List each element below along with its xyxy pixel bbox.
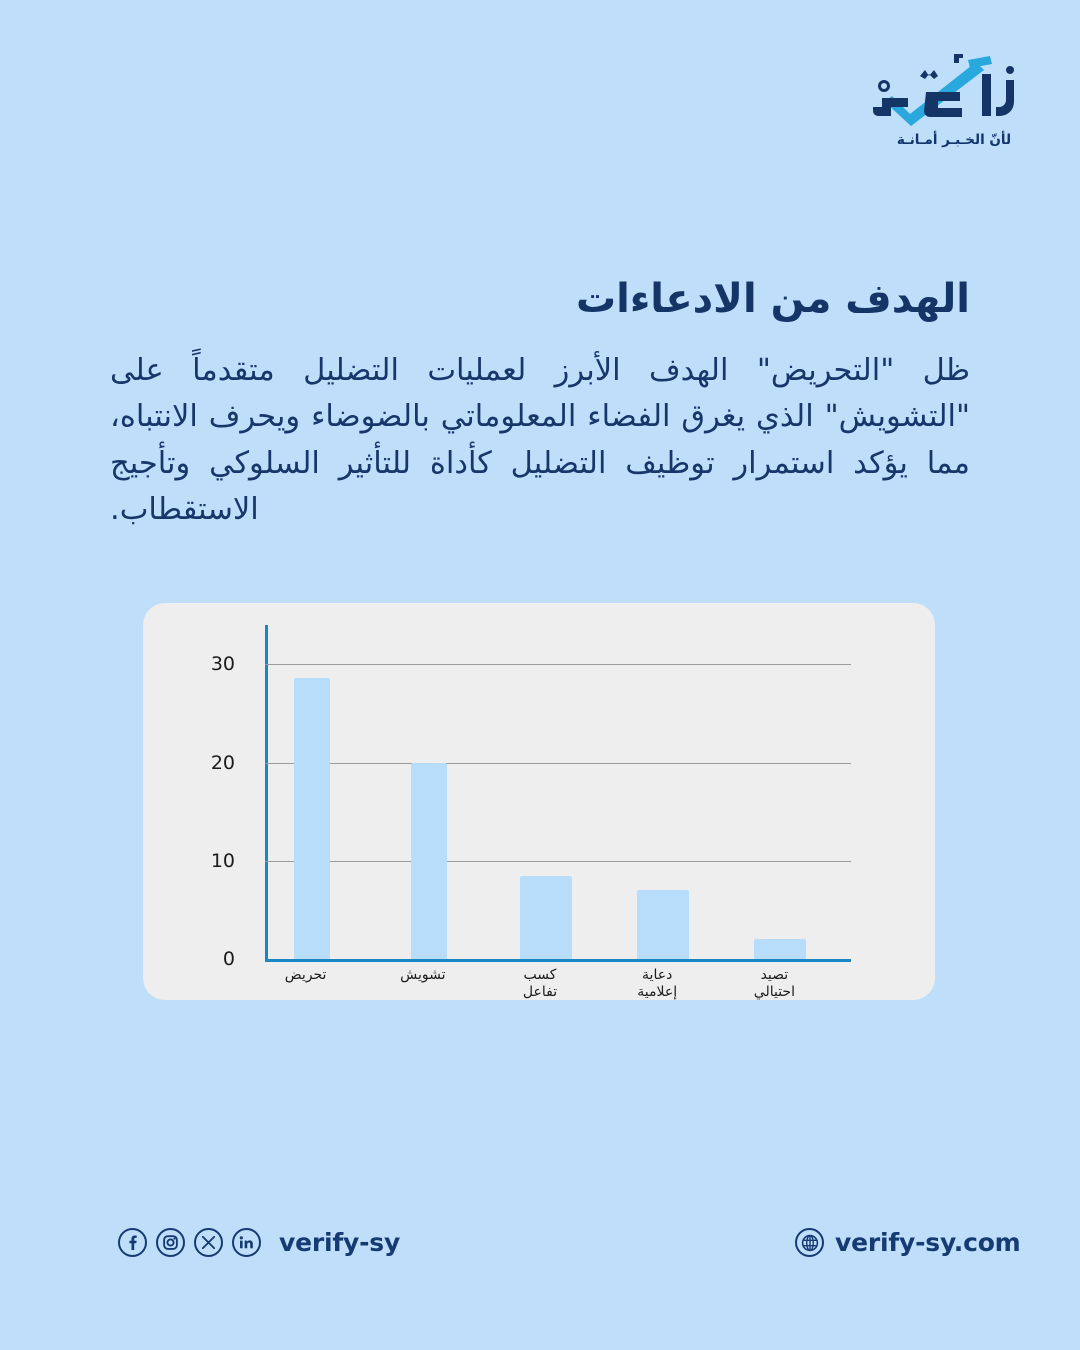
x-tick-label: دعايةإعلامية (602, 967, 712, 1001)
footer-website-group: verify-sy.com (795, 1228, 1021, 1257)
x-tick-label: كسبتفاعل (485, 967, 595, 1001)
x-tick-label-line: إعلامية (602, 984, 712, 1001)
globe-icon (795, 1228, 824, 1257)
y-tick-label: 30 (175, 653, 235, 675)
logo-glyph-icon (864, 52, 1044, 130)
x-tick-label-line: تشويش (368, 967, 478, 984)
bar (754, 939, 806, 959)
x-icon[interactable] (194, 1228, 223, 1257)
bar (520, 876, 572, 960)
bars-group (268, 625, 851, 959)
y-tick-label: 10 (175, 850, 235, 872)
x-tick-label: تحريض (251, 967, 361, 984)
x-tick-label-line: احتيالي (719, 984, 829, 1001)
instagram-icon[interactable] (156, 1228, 185, 1257)
logo-tagline: لأنّ الخـبـر أمـانـة (864, 132, 1044, 148)
y-tick-label: 0 (175, 948, 235, 970)
bar (411, 763, 447, 959)
chart-card: 0102030 تحريضتشويشكسبتفاعلدعايةإعلاميةتص… (143, 603, 935, 1000)
x-tick-label-line: دعاية (602, 967, 712, 984)
x-tick-label-line: تحريض (251, 967, 361, 984)
x-tick-label: تشويش (368, 967, 478, 984)
x-tick-label-line: كسب (485, 967, 595, 984)
logo-mark (864, 52, 1044, 130)
x-tick-label-line: تفاعل (485, 984, 595, 1001)
linkedin-icon[interactable] (232, 1228, 261, 1257)
x-tick-label: تصيداحتيالي (719, 967, 829, 1001)
y-tick-label: 20 (175, 752, 235, 774)
social-handle: verify-sy (279, 1228, 400, 1257)
brand-logo: لأنّ الخـبـر أمـانـة (864, 52, 1044, 162)
chart-plot-area: 0102030 تحريضتشويشكسبتفاعلدعايةإعلاميةتص… (143, 603, 935, 1000)
x-axis-line (265, 959, 851, 962)
facebook-icon[interactable] (118, 1228, 147, 1257)
page-title: الهدف من الادعاءات (110, 276, 970, 322)
footer-social-group: verify-sy (118, 1228, 400, 1257)
bar (294, 678, 330, 959)
bar (637, 890, 689, 959)
x-tick-label-line: تصيد (719, 967, 829, 984)
website-url[interactable]: verify-sy.com (835, 1228, 1021, 1257)
body-paragraph: ظل "التحريض" الهدف الأبرز لعمليات التضلي… (110, 348, 970, 533)
